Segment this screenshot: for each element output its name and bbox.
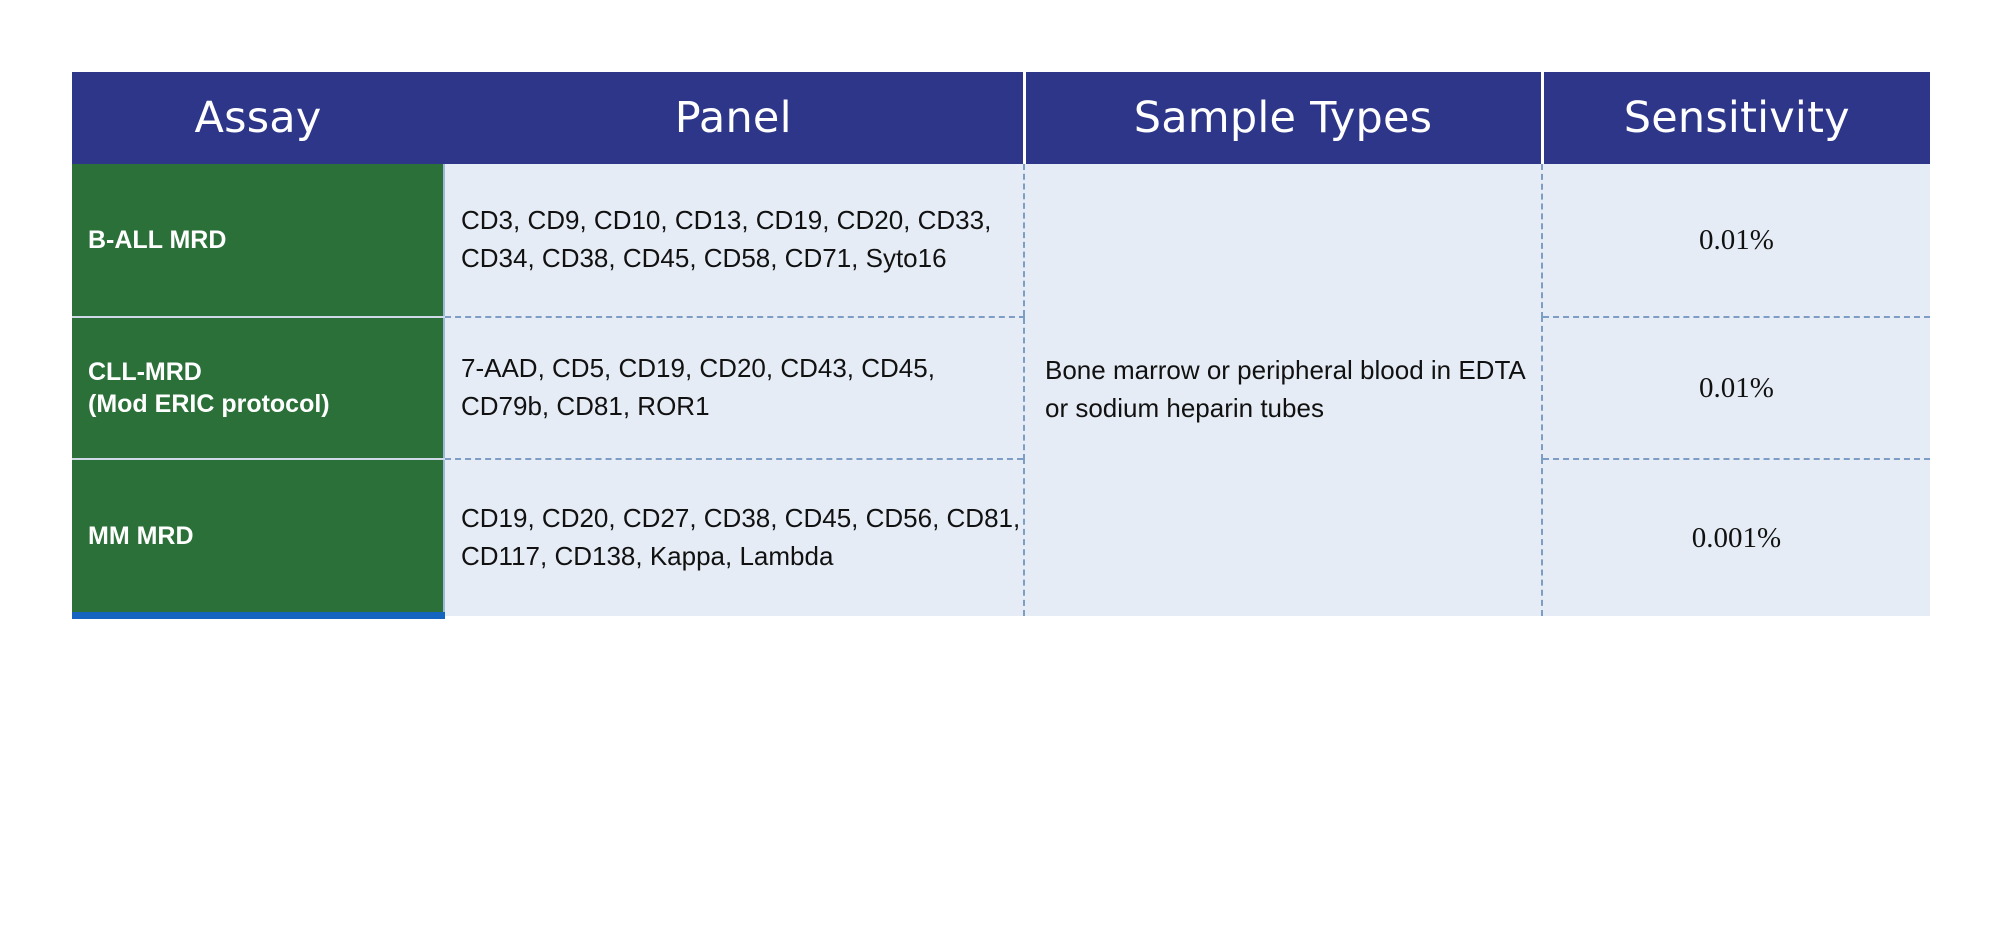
table-header: Assay Panel Sample Types Sensitivity bbox=[72, 72, 1930, 164]
assay-label-line1: B-ALL MRD bbox=[88, 224, 443, 257]
column-header-sample-types: Sample Types bbox=[1024, 72, 1542, 164]
sample-types-cell: Bone marrow or peripheral blood in EDTA … bbox=[1024, 164, 1542, 616]
assay-label-line1: CLL-MRD bbox=[88, 356, 443, 389]
assay-panel-table: Assay Panel Sample Types Sensitivity B-A… bbox=[72, 72, 1930, 619]
panel-markers-cell: 7-AAD, CD5, CD19, CD20, CD43, CD45, CD79… bbox=[444, 317, 1024, 459]
sensitivity-value-cell: 0.01% bbox=[1542, 317, 1930, 459]
sensitivity-value-cell: 0.01% bbox=[1542, 164, 1930, 317]
table-row: MM MRD CD19, CD20, CD27, CD38, CD45, CD5… bbox=[72, 459, 1930, 616]
table-header-row: Assay Panel Sample Types Sensitivity bbox=[72, 72, 1930, 164]
assay-name-cell: B-ALL MRD bbox=[72, 164, 444, 317]
table-row: B-ALL MRD CD3, CD9, CD10, CD13, CD19, CD… bbox=[72, 164, 1930, 317]
column-header-panel: Panel bbox=[444, 72, 1024, 164]
panel-markers-cell: CD3, CD9, CD10, CD13, CD19, CD20, CD33, … bbox=[444, 164, 1024, 317]
assay-panel-table-container: Assay Panel Sample Types Sensitivity B-A… bbox=[72, 72, 1930, 619]
panel-markers-cell: CD19, CD20, CD27, CD38, CD45, CD56, CD81… bbox=[444, 459, 1024, 616]
table-row: CLL-MRD (Mod ERIC protocol) 7-AAD, CD5, … bbox=[72, 317, 1930, 459]
panel-markers-text: 7-AAD, CD5, CD19, CD20, CD43, CD45, CD79… bbox=[461, 350, 1023, 426]
column-header-assay: Assay bbox=[72, 72, 444, 164]
panel-markers-text: CD19, CD20, CD27, CD38, CD45, CD56, CD81… bbox=[461, 500, 1023, 576]
assay-name-cell: MM MRD bbox=[72, 459, 444, 616]
sensitivity-value-cell: 0.001% bbox=[1542, 459, 1930, 616]
assay-label-line2: (Mod ERIC protocol) bbox=[88, 388, 443, 421]
sample-types-text: Bone marrow or peripheral blood in EDTA … bbox=[1045, 352, 1527, 428]
table-body: B-ALL MRD CD3, CD9, CD10, CD13, CD19, CD… bbox=[72, 164, 1930, 616]
panel-markers-text: CD3, CD9, CD10, CD13, CD19, CD20, CD33, … bbox=[461, 202, 1023, 278]
column-header-sensitivity: Sensitivity bbox=[1542, 72, 1930, 164]
assay-label-line1: MM MRD bbox=[88, 520, 443, 553]
assay-name-cell: CLL-MRD (Mod ERIC protocol) bbox=[72, 317, 444, 459]
